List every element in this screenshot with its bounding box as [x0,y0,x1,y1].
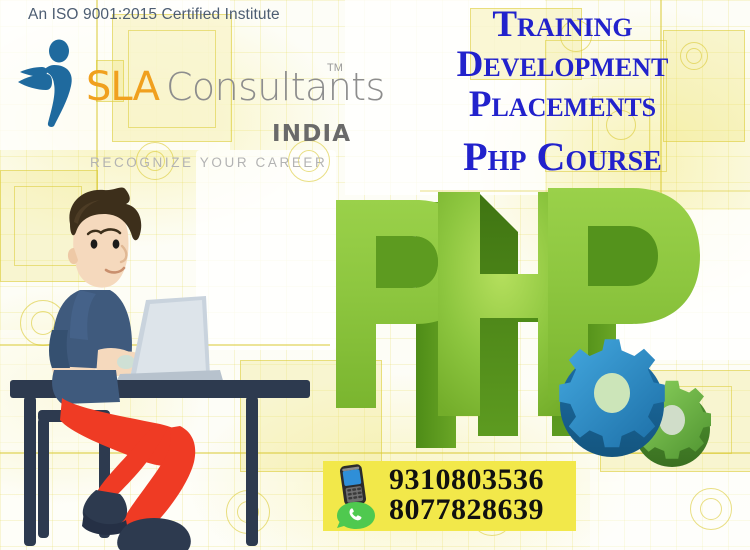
headline-line-development: Development [375,46,750,83]
contact-number-whatsapp[interactable]: 8077828639 [389,493,544,527]
gears-graphic [540,318,735,478]
logo-brand-primary: SLA [86,64,159,110]
student-at-desk-illustration [10,180,320,550]
iso-certification-text: An ISO 9001:2015 Certified Institute [28,6,280,24]
sla-logo: SLA Consultants TM INDIA RECOGNIZE YOUR … [14,34,344,144]
headline-line-placements: Placements [375,86,750,123]
bg-tech-shape [700,498,722,520]
logo-region: INDIA [272,121,351,147]
sla-swoosh-figure-icon [16,38,82,128]
headline-line-training: Training [375,6,750,43]
trademark-symbol: TM [327,62,343,74]
logo-brand-secondary: Consultants [166,65,385,109]
contact-strip[interactable]: 9310803536 8077828639 [323,461,576,531]
headline-block: Training Development Placements Php Cour… [375,2,750,177]
headline-line-php-course: Php Course [375,137,750,177]
poster-canvas: An ISO 9001:2015 Certified Institute SLA… [0,0,750,550]
whatsapp-icon [335,500,377,530]
logo-tagline: RECOGNIZE YOUR CAREER [90,155,327,170]
contact-number-mobile[interactable]: 9310803536 [389,463,544,497]
